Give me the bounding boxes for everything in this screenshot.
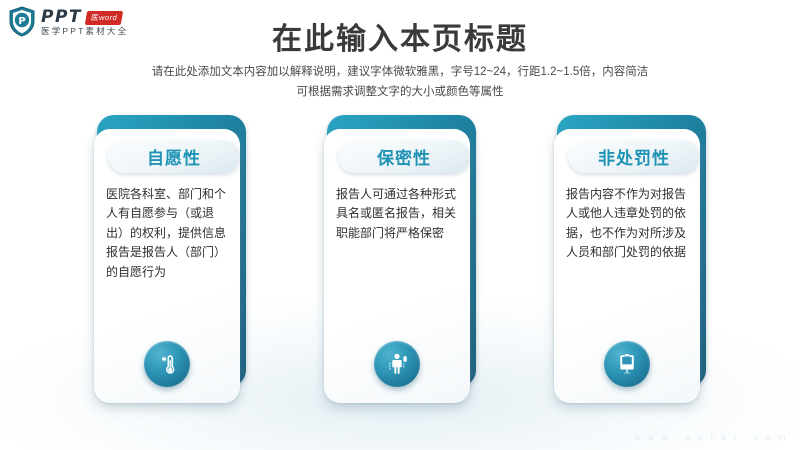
clipboard-icon bbox=[604, 341, 650, 387]
card-header: 非处罚性 bbox=[568, 139, 700, 173]
site-watermark: w w w . p p t e r . c o m bbox=[634, 433, 788, 442]
card-front-panel: 非处罚性 报告内容不作为对报告人或他人违章处罚的依据，也不作为对所涉及人员和部门… bbox=[554, 129, 700, 403]
card-title: 保密性 bbox=[377, 144, 431, 169]
page-subtitle: 请在此处添加文本内容加以解释说明，建议字体微软雅黑，字号12~24，行距1.2~… bbox=[0, 62, 800, 102]
card-front-panel: 保密性 报告人可通过各种形式具名或匿名报告，相关职能部门将严格保密 bbox=[324, 129, 470, 403]
card-confidential[interactable]: 保密性 报告人可通过各种形式具名或匿名报告，相关职能部门将严格保密 bbox=[324, 115, 476, 403]
person-icon bbox=[374, 341, 420, 387]
card-body-text: 医院各科室、部门和个人有自愿参与（或退出）的权利，提供信息报告是报告人（部门）的… bbox=[106, 185, 230, 282]
card-header: 保密性 bbox=[338, 139, 470, 173]
card-body-text: 报告内容不作为对报告人或他人违章处罚的依据，也不作为对所涉及人员和部门处罚的依据 bbox=[566, 185, 690, 263]
card-icon-wrap bbox=[554, 341, 700, 387]
card-front-panel: 自愿性 医院各科室、部门和个人有自愿参与（或退出）的权利，提供信息报告是报告人（… bbox=[94, 129, 240, 403]
card-non-punitive[interactable]: 非处罚性 报告内容不作为对报告人或他人违章处罚的依据，也不作为对所涉及人员和部门… bbox=[554, 115, 706, 403]
card-voluntary[interactable]: 自愿性 医院各科室、部门和个人有自愿参与（或退出）的权利，提供信息报告是报告人（… bbox=[94, 115, 246, 403]
card-title: 自愿性 bbox=[147, 144, 201, 169]
subtitle-line-2: 可根据需求调整文字的大小或颜色等属性 bbox=[0, 82, 800, 102]
card-header: 自愿性 bbox=[108, 139, 240, 173]
page-title: 在此输入本页标题 bbox=[0, 14, 800, 58]
card-icon-wrap bbox=[94, 341, 240, 387]
subtitle-line-1: 请在此处添加文本内容加以解释说明，建议字体微软雅黑，字号12~24，行距1.2~… bbox=[0, 62, 800, 82]
thermometer-icon bbox=[144, 341, 190, 387]
card-body-text: 报告人可通过各种形式具名或匿名报告，相关职能部门将严格保密 bbox=[336, 185, 460, 243]
card-icon-wrap bbox=[324, 341, 470, 387]
card-title: 非处罚性 bbox=[598, 144, 670, 169]
card-row: 自愿性 医院各科室、部门和个人有自愿参与（或退出）的权利，提供信息报告是报告人（… bbox=[0, 115, 800, 403]
